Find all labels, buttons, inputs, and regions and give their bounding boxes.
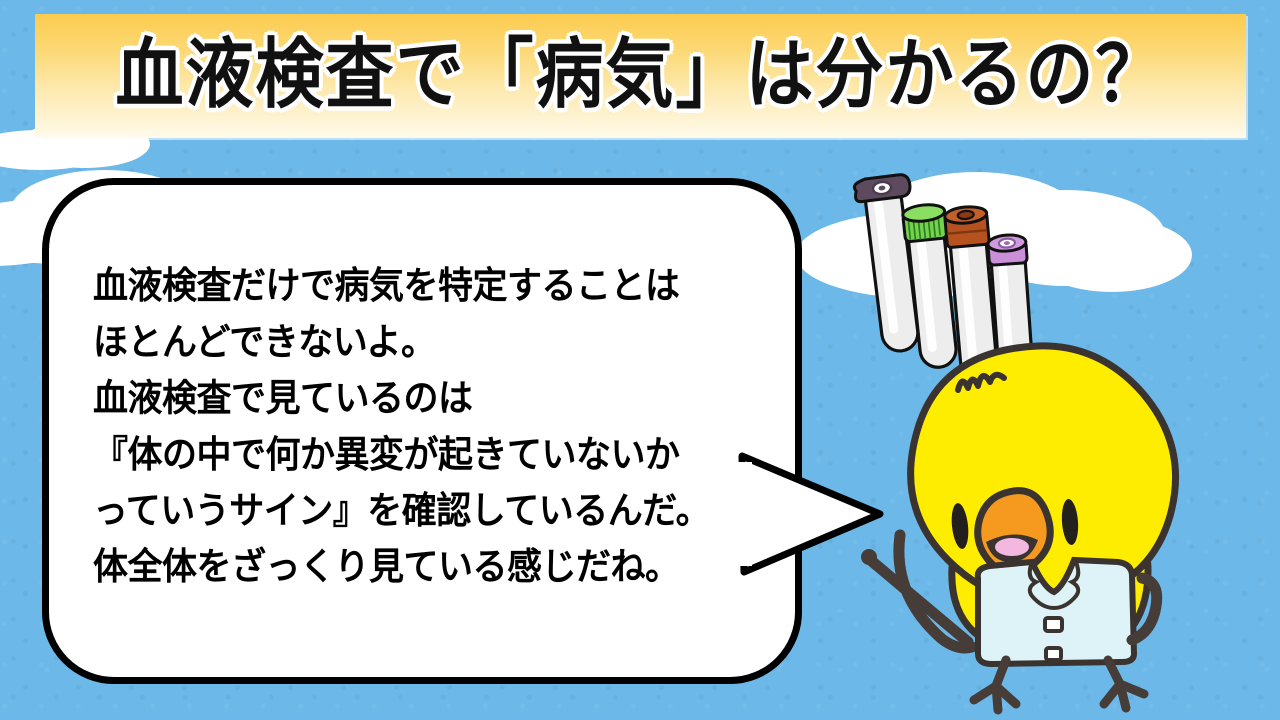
title-banner: 血液検査で「病気」は分かるの？ <box>35 14 1246 138</box>
chick-tongue <box>995 538 1029 556</box>
tube-cap-brown <box>944 205 989 248</box>
chick-feet <box>974 660 1144 710</box>
speech-bubble: 血液検査だけで病気を特定することは ほとんどできないよ。 血液検査で見ているのは… <box>42 178 802 684</box>
tube-cap-green <box>902 203 947 242</box>
speech-bubble-tail <box>742 452 922 580</box>
cloud-puff <box>1032 218 1192 292</box>
chick-coat-button-1 <box>1045 618 1062 631</box>
chick-head <box>911 346 1176 603</box>
tube-cap-light-purple <box>987 234 1027 266</box>
speech-bubble-text: 血液検査だけで病気を特定することは ほとんどできないよ。 血液検査で見ているのは… <box>93 259 769 596</box>
chick-coat-button-2 <box>1046 648 1061 660</box>
tube-cap-dark-purple <box>854 174 912 203</box>
test-tube-group <box>848 168 1048 353</box>
slide-canvas: 血液検査で「病気」は分かるの？ <box>0 0 1280 720</box>
page-title: 血液検査で「病気」は分かるの？ <box>115 38 1165 114</box>
